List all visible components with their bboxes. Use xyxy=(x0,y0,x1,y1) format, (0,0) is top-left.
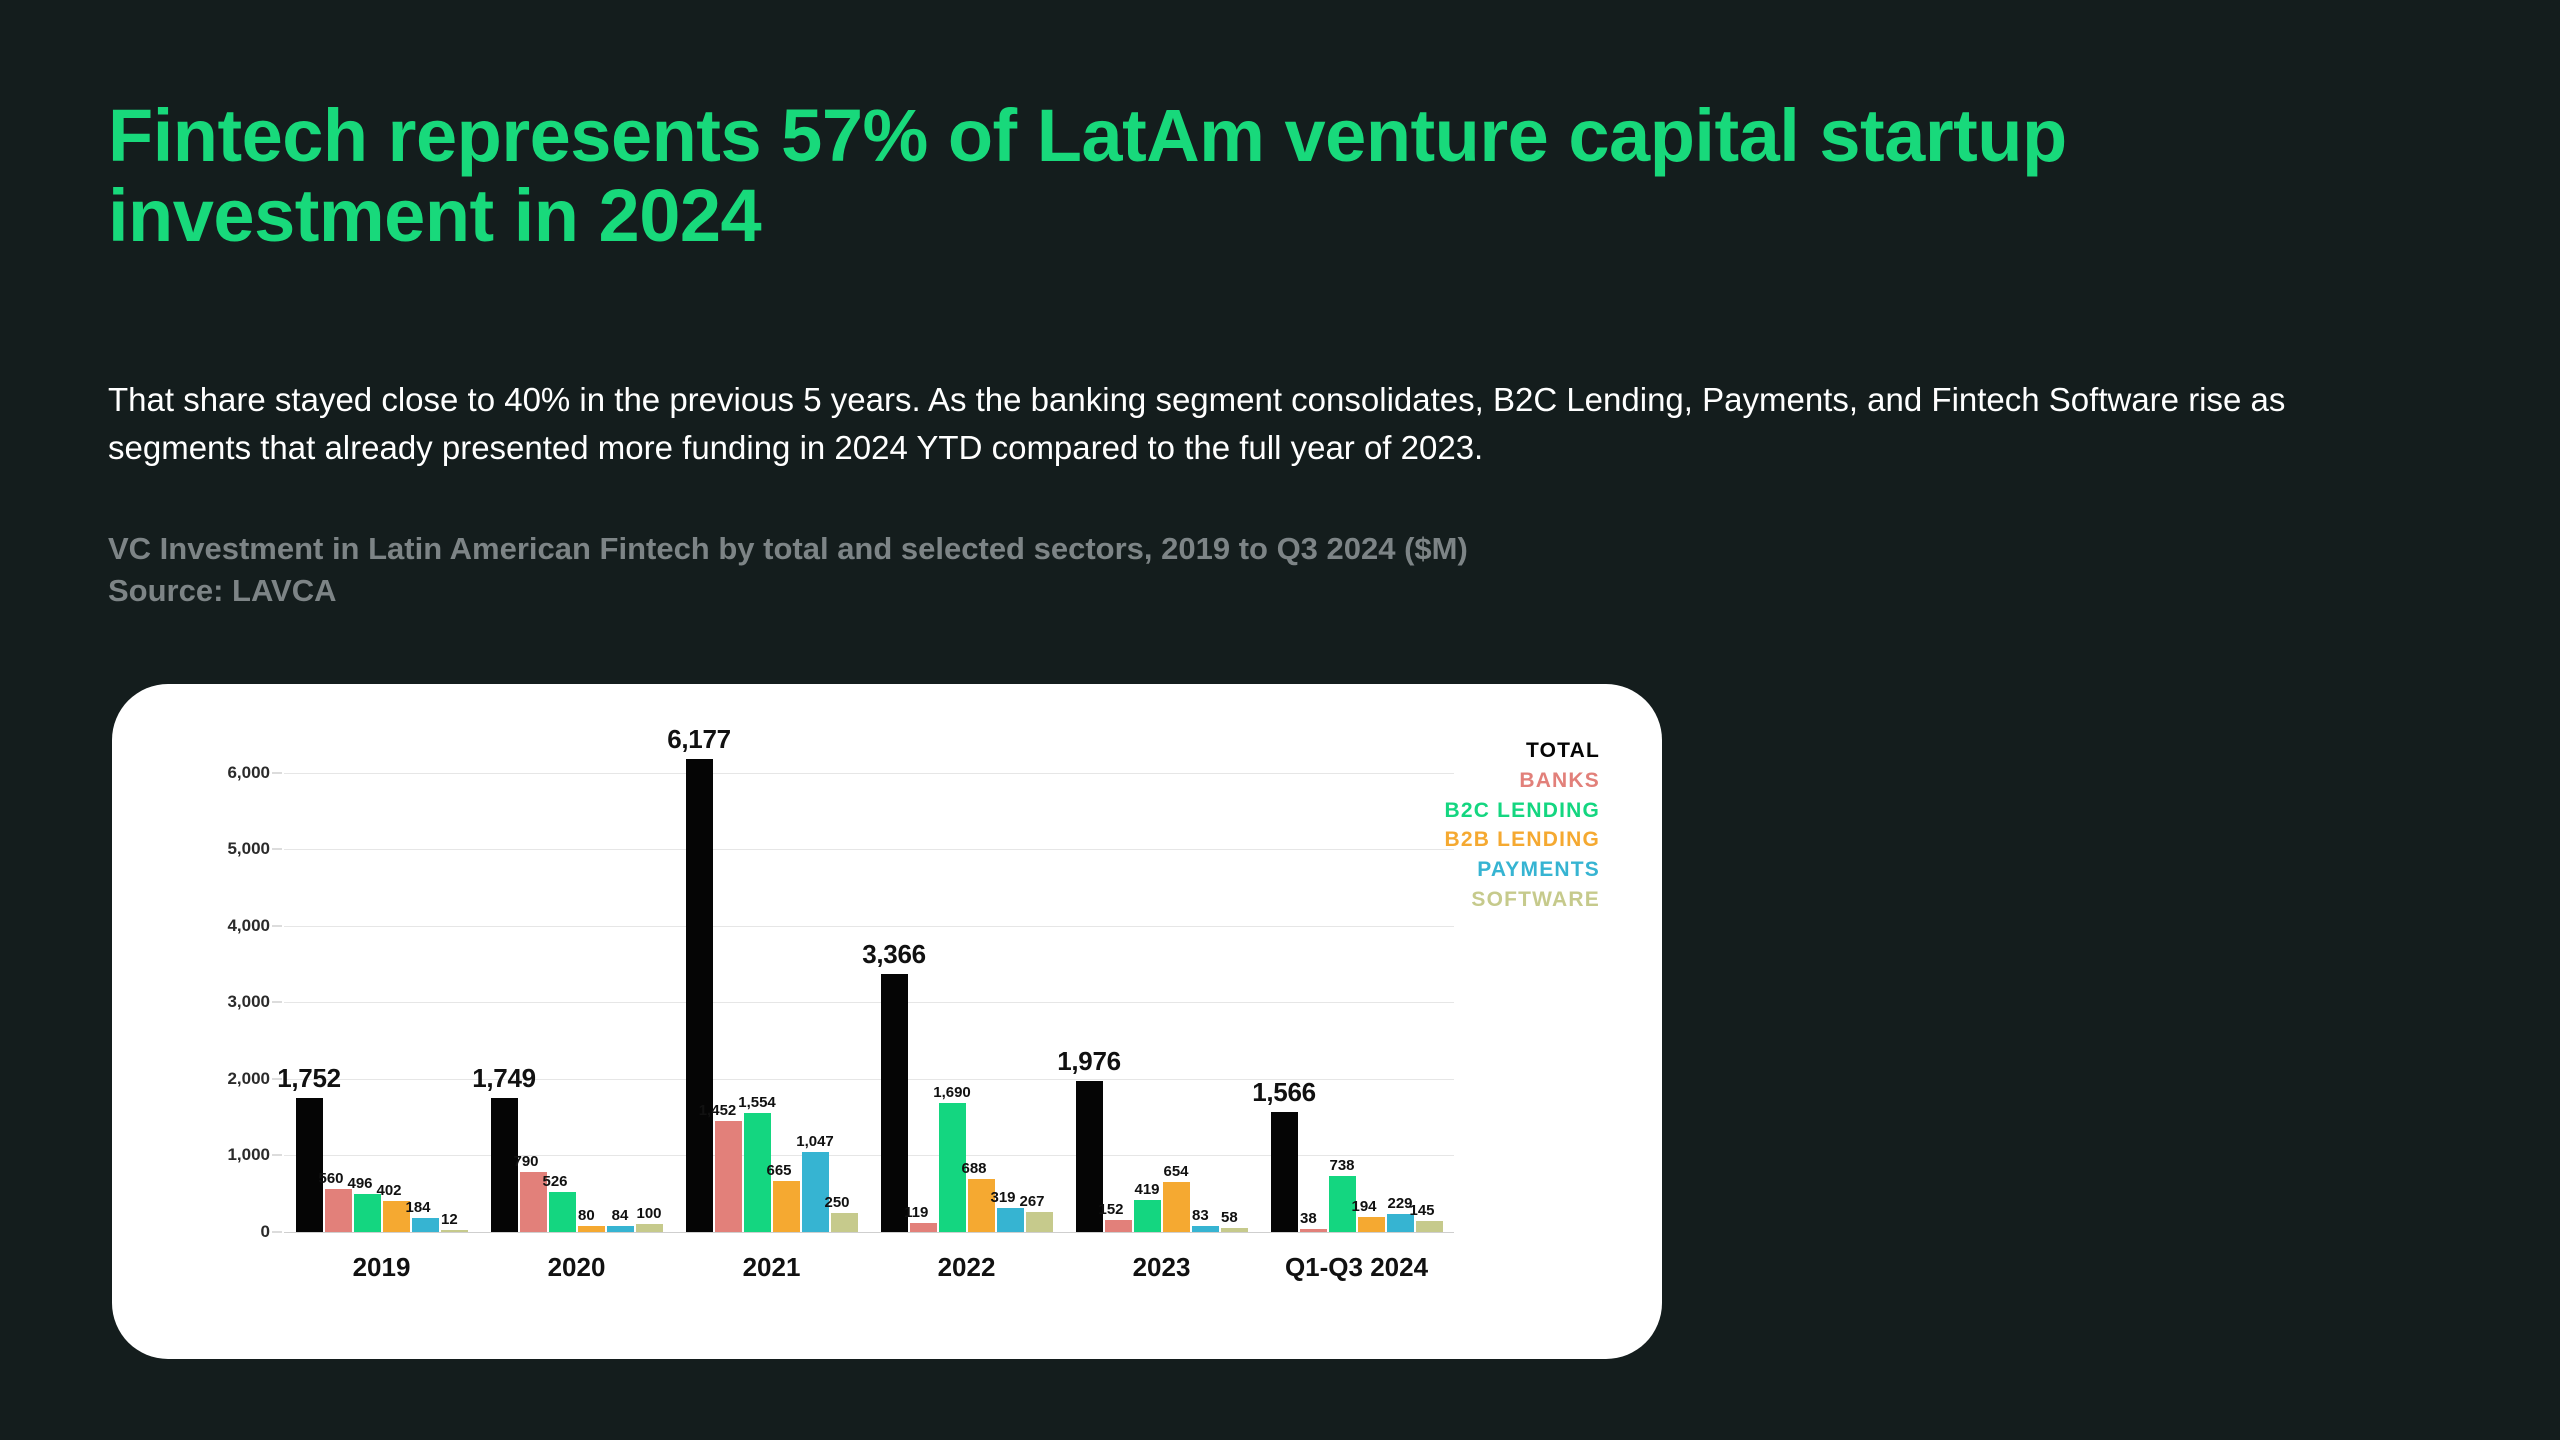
bar-slot: 496 xyxy=(354,742,381,1232)
bar-slot: 80 xyxy=(578,742,605,1232)
bar-group: 1,74979052680841002020 xyxy=(479,742,674,1232)
bar[interactable]: 119 xyxy=(910,1223,937,1232)
bar-slot: 145 xyxy=(1416,742,1443,1232)
bar-slot: 665 xyxy=(773,742,800,1232)
gridline xyxy=(284,1232,1454,1233)
bar-value-label: 184 xyxy=(405,1199,430,1216)
bar-slot: 1,047 xyxy=(802,742,829,1232)
bar[interactable]: 184 xyxy=(412,1218,439,1232)
chart-caption: VC Investment in Latin American Fintech … xyxy=(108,528,2328,570)
y-axis-tick-mark xyxy=(272,1002,282,1003)
bar-slot: 267 xyxy=(1026,742,1053,1232)
bar-value-label: 100 xyxy=(636,1205,661,1222)
chart-legend: TOTALBANKSB2C LENDINGB2B LENDINGPAYMENTS… xyxy=(1444,736,1600,915)
y-axis-tick-mark xyxy=(272,849,282,850)
bar-slot: 419 xyxy=(1134,742,1161,1232)
bar-slot: 58 xyxy=(1221,742,1248,1232)
y-axis-tick-label: 2,000 xyxy=(227,1069,270,1089)
bar-value-label: 1,047 xyxy=(796,1133,834,1150)
bar-slot: 1,554 xyxy=(744,742,771,1232)
bar-value-label: 12 xyxy=(441,1211,458,1228)
bar-slot: 526 xyxy=(549,742,576,1232)
bar-value-label: 688 xyxy=(961,1160,986,1177)
bar-slot: 560 xyxy=(325,742,352,1232)
bar-value-label: 1,554 xyxy=(738,1094,776,1111)
bar-group: 1,97615241965483582023 xyxy=(1064,742,1259,1232)
y-axis-tick-label: 1,000 xyxy=(227,1145,270,1165)
chart-plot-area: 01,0002,0003,0004,0005,0006,000 1,752560… xyxy=(284,742,1454,1232)
y-axis-tick-mark xyxy=(272,772,282,773)
bar-value-label: 738 xyxy=(1329,1157,1354,1174)
x-axis-label: 2021 xyxy=(743,1252,801,1283)
bar-value-label: 38 xyxy=(1300,1210,1317,1227)
bar-value-label: 84 xyxy=(612,1207,629,1224)
page-title: Fintech represents 57% of LatAm venture … xyxy=(108,96,2108,256)
y-axis-tick-label: 3,000 xyxy=(227,992,270,1012)
bar[interactable]: 12 xyxy=(441,1230,468,1232)
bar-value-label: 145 xyxy=(1409,1202,1434,1219)
bar-group: 6,1771,4521,5546651,0472502021 xyxy=(674,742,869,1232)
bar[interactable]: 1,566 xyxy=(1271,1112,1298,1232)
bar[interactable]: 145 xyxy=(1416,1221,1443,1232)
bar-value-label: 526 xyxy=(542,1173,567,1190)
bar-value-label: 665 xyxy=(766,1162,791,1179)
legend-item-payments[interactable]: PAYMENTS xyxy=(1444,855,1600,885)
legend-item-software[interactable]: SOFTWARE xyxy=(1444,885,1600,915)
bar-slot: 250 xyxy=(831,742,858,1232)
bar[interactable]: 84 xyxy=(607,1226,634,1232)
bar-slot: 152 xyxy=(1105,742,1132,1232)
bar-slot: 84 xyxy=(607,742,634,1232)
y-axis-tick-label: 5,000 xyxy=(227,839,270,859)
bar-slot: 12 xyxy=(441,742,468,1232)
bar-value-label: 419 xyxy=(1134,1181,1159,1198)
bar-value-label: 790 xyxy=(513,1153,538,1170)
bar-group: 1,752560496402184122019 xyxy=(284,742,479,1232)
bar-slot: 119 xyxy=(910,742,937,1232)
bar-slot: 1,752 xyxy=(296,742,323,1232)
bar-slot: 1,976 xyxy=(1076,742,1103,1232)
bar[interactable]: 1,047 xyxy=(802,1152,829,1232)
chart-card: 01,0002,0003,0004,0005,0006,000 1,752560… xyxy=(112,684,1662,1359)
bar-value-label: 496 xyxy=(347,1175,372,1192)
y-axis-tick-mark xyxy=(272,1232,282,1233)
x-axis-label: 2019 xyxy=(353,1252,411,1283)
bar-value-label: 119 xyxy=(904,1204,928,1221)
bar[interactable]: 194 xyxy=(1358,1217,1385,1232)
bar-slot: 229 xyxy=(1387,742,1414,1232)
bar-slot: 6,177 xyxy=(686,742,713,1232)
slide-canvas: Fintech represents 57% of LatAm venture … xyxy=(0,0,2560,1440)
bar[interactable]: 496 xyxy=(354,1194,381,1232)
bar-slot: 83 xyxy=(1192,742,1219,1232)
bar[interactable]: 250 xyxy=(831,1213,858,1232)
chart-source: Source: LAVCA xyxy=(108,570,2328,612)
y-axis-tick-label: 4,000 xyxy=(227,916,270,936)
bar[interactable]: 3,366 xyxy=(881,974,908,1232)
bar[interactable]: 100 xyxy=(636,1224,663,1232)
bar-value-label: 194 xyxy=(1351,1198,1376,1215)
bar[interactable]: 267 xyxy=(1026,1212,1053,1232)
bar[interactable]: 560 xyxy=(325,1189,352,1232)
bar-slot: 1,690 xyxy=(939,742,966,1232)
bar-value-label: 267 xyxy=(1019,1193,1044,1210)
y-axis-tick-mark xyxy=(272,1155,282,1156)
bar-slot: 1,566 xyxy=(1271,742,1298,1232)
bar-groups: 1,7525604964021841220191,749790526808410… xyxy=(284,742,1454,1232)
bar[interactable]: 6,177 xyxy=(686,759,713,1232)
bar-value-label: 1,690 xyxy=(933,1084,971,1101)
bar[interactable]: 654 xyxy=(1163,1182,1190,1232)
bar-value-label: 560 xyxy=(318,1170,343,1187)
bar-group: 3,3661191,6906883192672022 xyxy=(869,742,1064,1232)
bar-slot: 654 xyxy=(1163,742,1190,1232)
bar[interactable]: 1,752 xyxy=(296,1098,323,1232)
bar-slot: 100 xyxy=(636,742,663,1232)
bar-slot: 194 xyxy=(1358,742,1385,1232)
bar-value-label: 654 xyxy=(1163,1163,1188,1180)
bar[interactable]: 1,452 xyxy=(715,1121,742,1232)
bar[interactable]: 419 xyxy=(1134,1200,1161,1232)
bar-slot: 790 xyxy=(520,742,547,1232)
bar-slot: 738 xyxy=(1329,742,1356,1232)
legend-item-banks[interactable]: BANKS xyxy=(1444,766,1600,796)
bar[interactable]: 83 xyxy=(1192,1226,1219,1232)
legend-item-total[interactable]: TOTAL xyxy=(1444,736,1600,766)
y-axis-tick-mark xyxy=(272,925,282,926)
bar-value-label: 402 xyxy=(376,1182,401,1199)
bar[interactable]: 38 xyxy=(1300,1229,1327,1232)
legend-item-b2c-lending[interactable]: B2C LENDING xyxy=(1444,796,1600,826)
bar-slot: 38 xyxy=(1300,742,1327,1232)
bar-value-label: 319 xyxy=(990,1189,1015,1206)
legend-item-b2b-lending[interactable]: B2B LENDING xyxy=(1444,825,1600,855)
x-axis-label: 2023 xyxy=(1133,1252,1191,1283)
bar-value-label: 83 xyxy=(1192,1207,1209,1224)
bar-slot: 184 xyxy=(412,742,439,1232)
y-axis-tick-label: 0 xyxy=(261,1222,270,1242)
bar[interactable]: 152 xyxy=(1105,1220,1132,1232)
bar-slot: 688 xyxy=(968,742,995,1232)
bar-slot: 3,366 xyxy=(881,742,908,1232)
bar-value-label: 80 xyxy=(578,1207,595,1224)
bar[interactable]: 319 xyxy=(997,1208,1024,1232)
chart-caption-block: VC Investment in Latin American Fintech … xyxy=(108,528,2328,612)
bar[interactable]: 58 xyxy=(1221,1228,1248,1232)
x-axis-label: Q1-Q3 2024 xyxy=(1285,1252,1428,1283)
bar-value-label: 1,452 xyxy=(699,1102,737,1119)
bar[interactable]: 665 xyxy=(773,1181,800,1232)
bar-slot: 402 xyxy=(383,742,410,1232)
deck-paragraph: That share stayed close to 40% in the pr… xyxy=(108,376,2328,472)
bar[interactable]: 526 xyxy=(549,1192,576,1232)
bar-slot: 319 xyxy=(997,742,1024,1232)
y-axis-tick-label: 6,000 xyxy=(227,763,270,783)
bar-value-label: 152 xyxy=(1098,1201,1123,1218)
bar[interactable]: 80 xyxy=(578,1226,605,1232)
x-axis-label: 2022 xyxy=(938,1252,996,1283)
x-axis-label: 2020 xyxy=(548,1252,606,1283)
bar-value-label: 250 xyxy=(824,1194,849,1211)
bar-group: 1,56638738194229145Q1-Q3 2024 xyxy=(1259,742,1454,1232)
bar[interactable]: 688 xyxy=(968,1179,995,1232)
bar-slot: 1,452 xyxy=(715,742,742,1232)
bar-value-label: 58 xyxy=(1221,1209,1238,1226)
